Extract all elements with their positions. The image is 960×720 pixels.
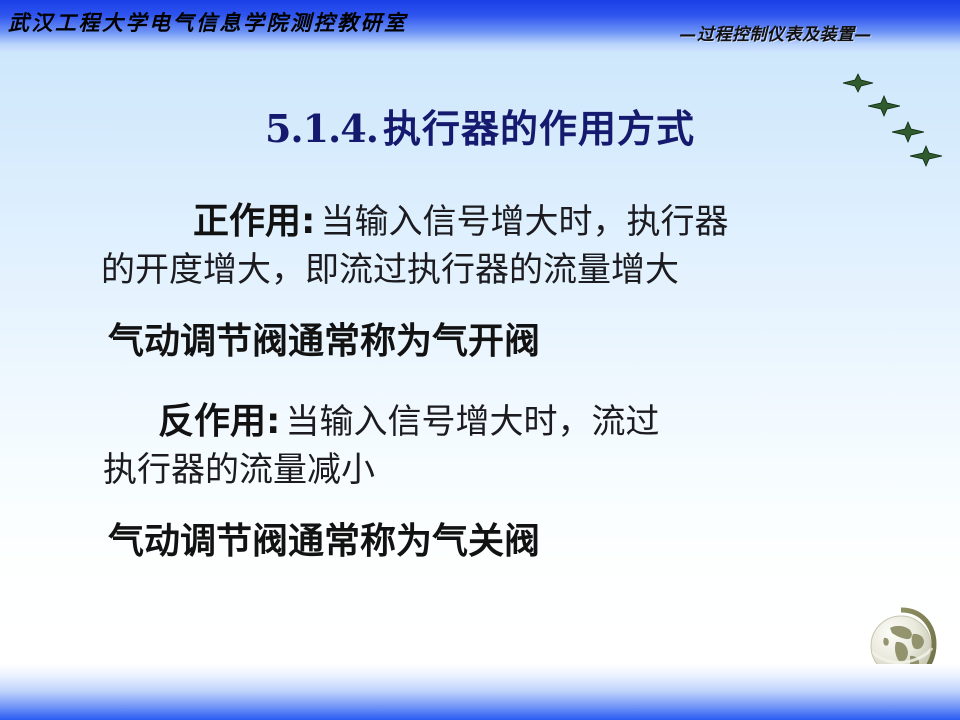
direct-action-line-2: 的开度增大，即流过执行器的流量增大 (101, 242, 679, 291)
slide-header-bar: 武汉工程大学电气信息学院测控教研室 —过程控制仪表及装置— (0, 0, 960, 52)
page-title-text: 执行器的作用方式 (383, 107, 695, 151)
reverse-action-line-2: 执行器的流量减小 (103, 442, 375, 491)
reverse-action-conclusion: 气动调节阀通常称为气关阀 (108, 512, 540, 564)
reverse-action-line-1: 反作用: 当输入信号增大时，流过 (158, 392, 660, 444)
page-title: 5.1.4. 执行器的作用方式 (0, 98, 960, 153)
direct-action-line-1: 正作用: 当输入信号增大时，执行器 (193, 192, 729, 244)
slide-canvas: 武汉工程大学电气信息学院测控教研室 —过程控制仪表及装置— 5.1.4. 执行器… (0, 0, 960, 720)
direct-action-label: 正作用: (193, 201, 315, 242)
header-course-title: —过程控制仪表及装置— (680, 20, 873, 45)
header-institution-title: 武汉工程大学电气信息学院测控教研室 (8, 7, 408, 37)
reverse-action-line-1-text: 当输入信号增大时，流过 (286, 402, 660, 442)
footer-nav: 上页 目 录 下页 (0, 670, 960, 720)
direct-action-conclusion: 气动调节阀通常称为气开阀 (108, 312, 540, 364)
page-title-number: 5.1.4. (265, 106, 378, 151)
reverse-action-label: 反作用: (158, 401, 280, 442)
direct-action-line-1-text: 当输入信号增大时，执行器 (321, 202, 729, 242)
